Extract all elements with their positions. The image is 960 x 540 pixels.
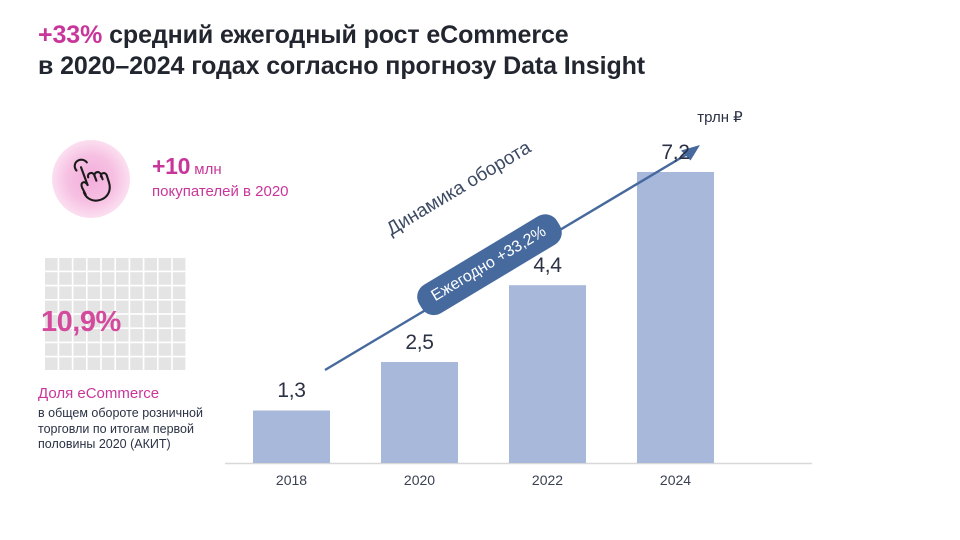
bar xyxy=(381,362,458,463)
x-axis-label: 2022 xyxy=(503,472,593,488)
bar xyxy=(509,285,586,463)
bar-value-label: 7,2 xyxy=(631,141,721,165)
bar-value-label: 4,4 xyxy=(503,254,593,278)
x-axis-label: 2024 xyxy=(631,472,721,488)
x-axis-label: 2018 xyxy=(247,472,337,488)
unit-label: трлн ₽ xyxy=(660,108,780,126)
x-axis-label: 2020 xyxy=(375,472,465,488)
bar-series xyxy=(253,172,714,463)
bar xyxy=(253,411,330,464)
bar-value-label: 1,3 xyxy=(247,379,337,403)
bar-value-label: 2,5 xyxy=(375,331,465,355)
bar xyxy=(637,172,714,463)
infographic-canvas: +33% средний ежегодный рост eCommerce в … xyxy=(0,0,960,540)
